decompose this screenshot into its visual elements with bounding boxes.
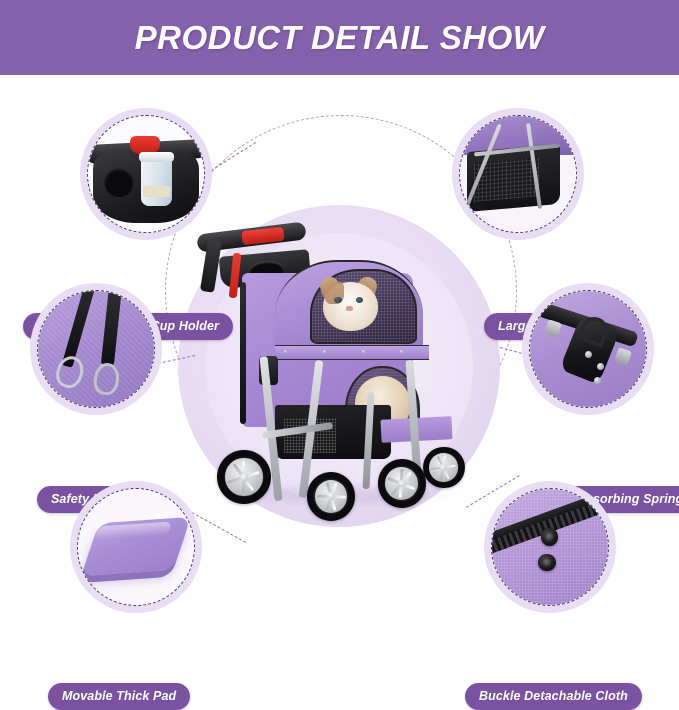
cat-nose	[346, 306, 352, 311]
photo-storage-bracket-cup-holder	[88, 116, 204, 232]
wheel-cap	[398, 480, 406, 488]
coffee-cup-lid	[139, 152, 174, 162]
bubble-shock-absorbing-spring[interactable]	[522, 283, 654, 415]
coffee-cup-band	[143, 186, 171, 198]
photo-safety-lock	[38, 291, 154, 407]
bubble-inner	[459, 115, 577, 233]
snap-button	[541, 528, 558, 545]
stroller-body-edge	[240, 282, 246, 424]
bubble-movable-thick-pad[interactable]	[70, 481, 202, 613]
photo-shock-absorbing-spring	[530, 291, 646, 407]
spring-rivet	[585, 351, 592, 358]
header-banner: PRODUCT DETAIL SHOW	[0, 0, 679, 75]
wheel-hub	[385, 467, 418, 500]
label-buckle-detachable-cloth: Buckle Detachable Cloth	[465, 683, 642, 710]
wheel-hub	[315, 480, 348, 513]
snap-button	[538, 554, 555, 571]
wheel-hub	[429, 453, 457, 481]
stroller-seat-rail	[275, 345, 430, 360]
bubble-storage-bracket-cup-holder[interactable]	[80, 108, 212, 240]
bubble-large-storage-basket[interactable]	[452, 108, 584, 240]
page-title: PRODUCT DETAIL SHOW	[135, 19, 545, 57]
stroller-wheel	[378, 459, 426, 507]
coffee-cup	[141, 155, 171, 206]
cat-eye-left	[334, 297, 342, 303]
stroller-rivet	[323, 350, 326, 353]
bubble-inner	[37, 290, 155, 408]
bubble-inner	[491, 488, 609, 606]
bubble-safety-lock[interactable]	[30, 283, 162, 415]
photo-large-storage-basket	[460, 116, 576, 232]
spring-rivet	[594, 377, 601, 384]
product-image-pet-stroller	[178, 205, 500, 527]
bubble-inner	[529, 290, 647, 408]
bubble-buckle-detachable-cloth[interactable]	[484, 481, 616, 613]
wheel-cap	[440, 464, 447, 471]
photo-movable-thick-pad	[78, 489, 194, 605]
bubble-inner	[87, 115, 205, 233]
stroller-wheel	[423, 447, 465, 489]
label-movable-thick-pad: Movable Thick Pad	[48, 683, 190, 710]
stroller-red-clip	[242, 227, 285, 246]
infographic-stage: Storage Bracket & Cup Holder Large Stora…	[0, 75, 679, 679]
bubble-inner	[77, 488, 195, 606]
photo-buckle-detachable-cloth	[492, 489, 608, 605]
wheel-hub	[225, 458, 262, 495]
stroller-rivet	[362, 350, 365, 353]
wheel-cap	[240, 473, 249, 482]
stroller-wheel	[307, 472, 355, 520]
